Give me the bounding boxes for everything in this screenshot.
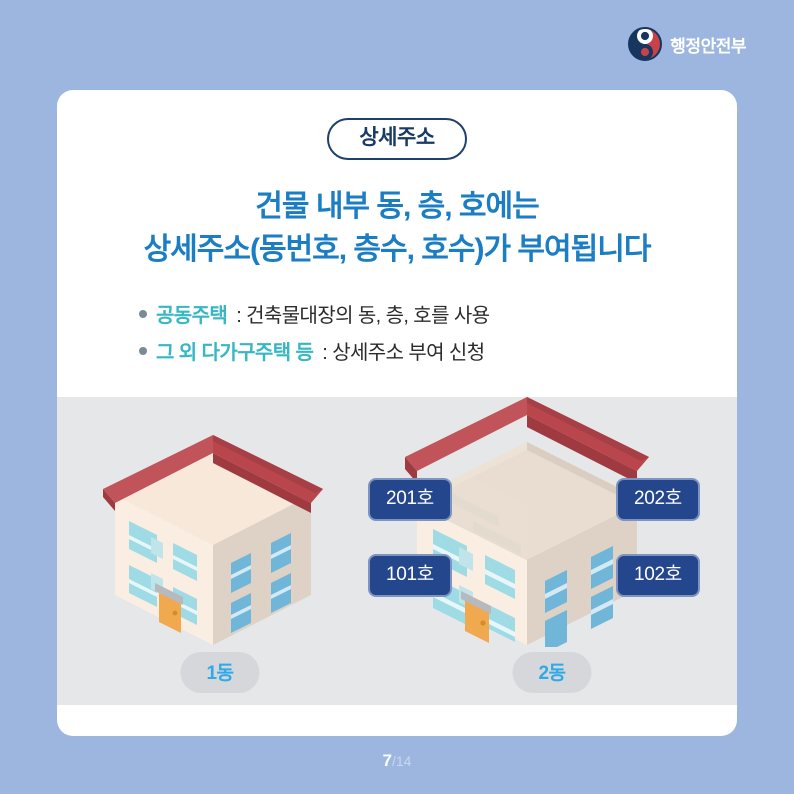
unit-tag-202: 202호 bbox=[616, 478, 700, 521]
card-text-section: 상세주소 건물 내부 동, 층, 호에는 상세주소(동번호, 층수, 호수)가 … bbox=[57, 90, 737, 397]
list-item: 그 외 다가구주택 등 : 상세주소 부여 신청 bbox=[139, 338, 737, 369]
page-current: 7 bbox=[383, 751, 392, 770]
bullet-list: 공동주택 : 건축물대장의 동, 층, 호를 사용 그 외 다가구주택 등 : … bbox=[57, 301, 737, 397]
bullet-key: 공동주택 bbox=[156, 301, 227, 332]
unit-tag-101: 101호 bbox=[368, 554, 452, 597]
badge-row: 상세주소 bbox=[57, 118, 737, 160]
headline-line-2: 상세주소(동번호, 층수, 호수)가 부여됩니다 bbox=[77, 229, 717, 272]
section-badge: 상세주소 bbox=[327, 118, 466, 160]
bullet-value: : 상세주소 부여 신청 bbox=[322, 338, 484, 369]
building-1-label: 1동 bbox=[180, 652, 259, 693]
building-1-illustration bbox=[95, 417, 345, 647]
bullet-dot-icon bbox=[139, 310, 147, 318]
unit-tag-102: 102호 bbox=[616, 554, 700, 597]
page-total: /14 bbox=[392, 753, 411, 769]
illustration-panel: 1동 bbox=[57, 397, 737, 705]
list-item: 공동주택 : 건축물대장의 동, 층, 호를 사용 bbox=[139, 301, 737, 332]
content-card: 상세주소 건물 내부 동, 층, 호에는 상세주소(동번호, 층수, 호수)가 … bbox=[57, 90, 737, 736]
unit-tag-201: 201호 bbox=[368, 478, 452, 521]
brand-name: 행정안전부 bbox=[670, 32, 746, 57]
page-title: 건물 내부 동, 층, 호에는 상세주소(동번호, 층수, 호수)가 부여됩니다 bbox=[57, 186, 737, 271]
bullet-key: 그 외 다가구주택 등 bbox=[156, 338, 313, 369]
building-2-label: 2동 bbox=[512, 652, 591, 693]
building-2-illustration bbox=[387, 397, 667, 647]
government-brand: 행정안전부 bbox=[628, 24, 746, 64]
bullet-value: : 건축물대장의 동, 층, 호를 사용 bbox=[236, 301, 489, 332]
taegeuk-icon bbox=[628, 27, 662, 61]
headline-line-1: 건물 내부 동, 층, 호에는 bbox=[77, 186, 717, 229]
bullet-dot-icon bbox=[139, 347, 147, 355]
building-1-group: 1동 bbox=[95, 417, 345, 647]
building-2-group: 2동 bbox=[387, 397, 717, 647]
page-counter: 7/14 bbox=[0, 752, 794, 770]
